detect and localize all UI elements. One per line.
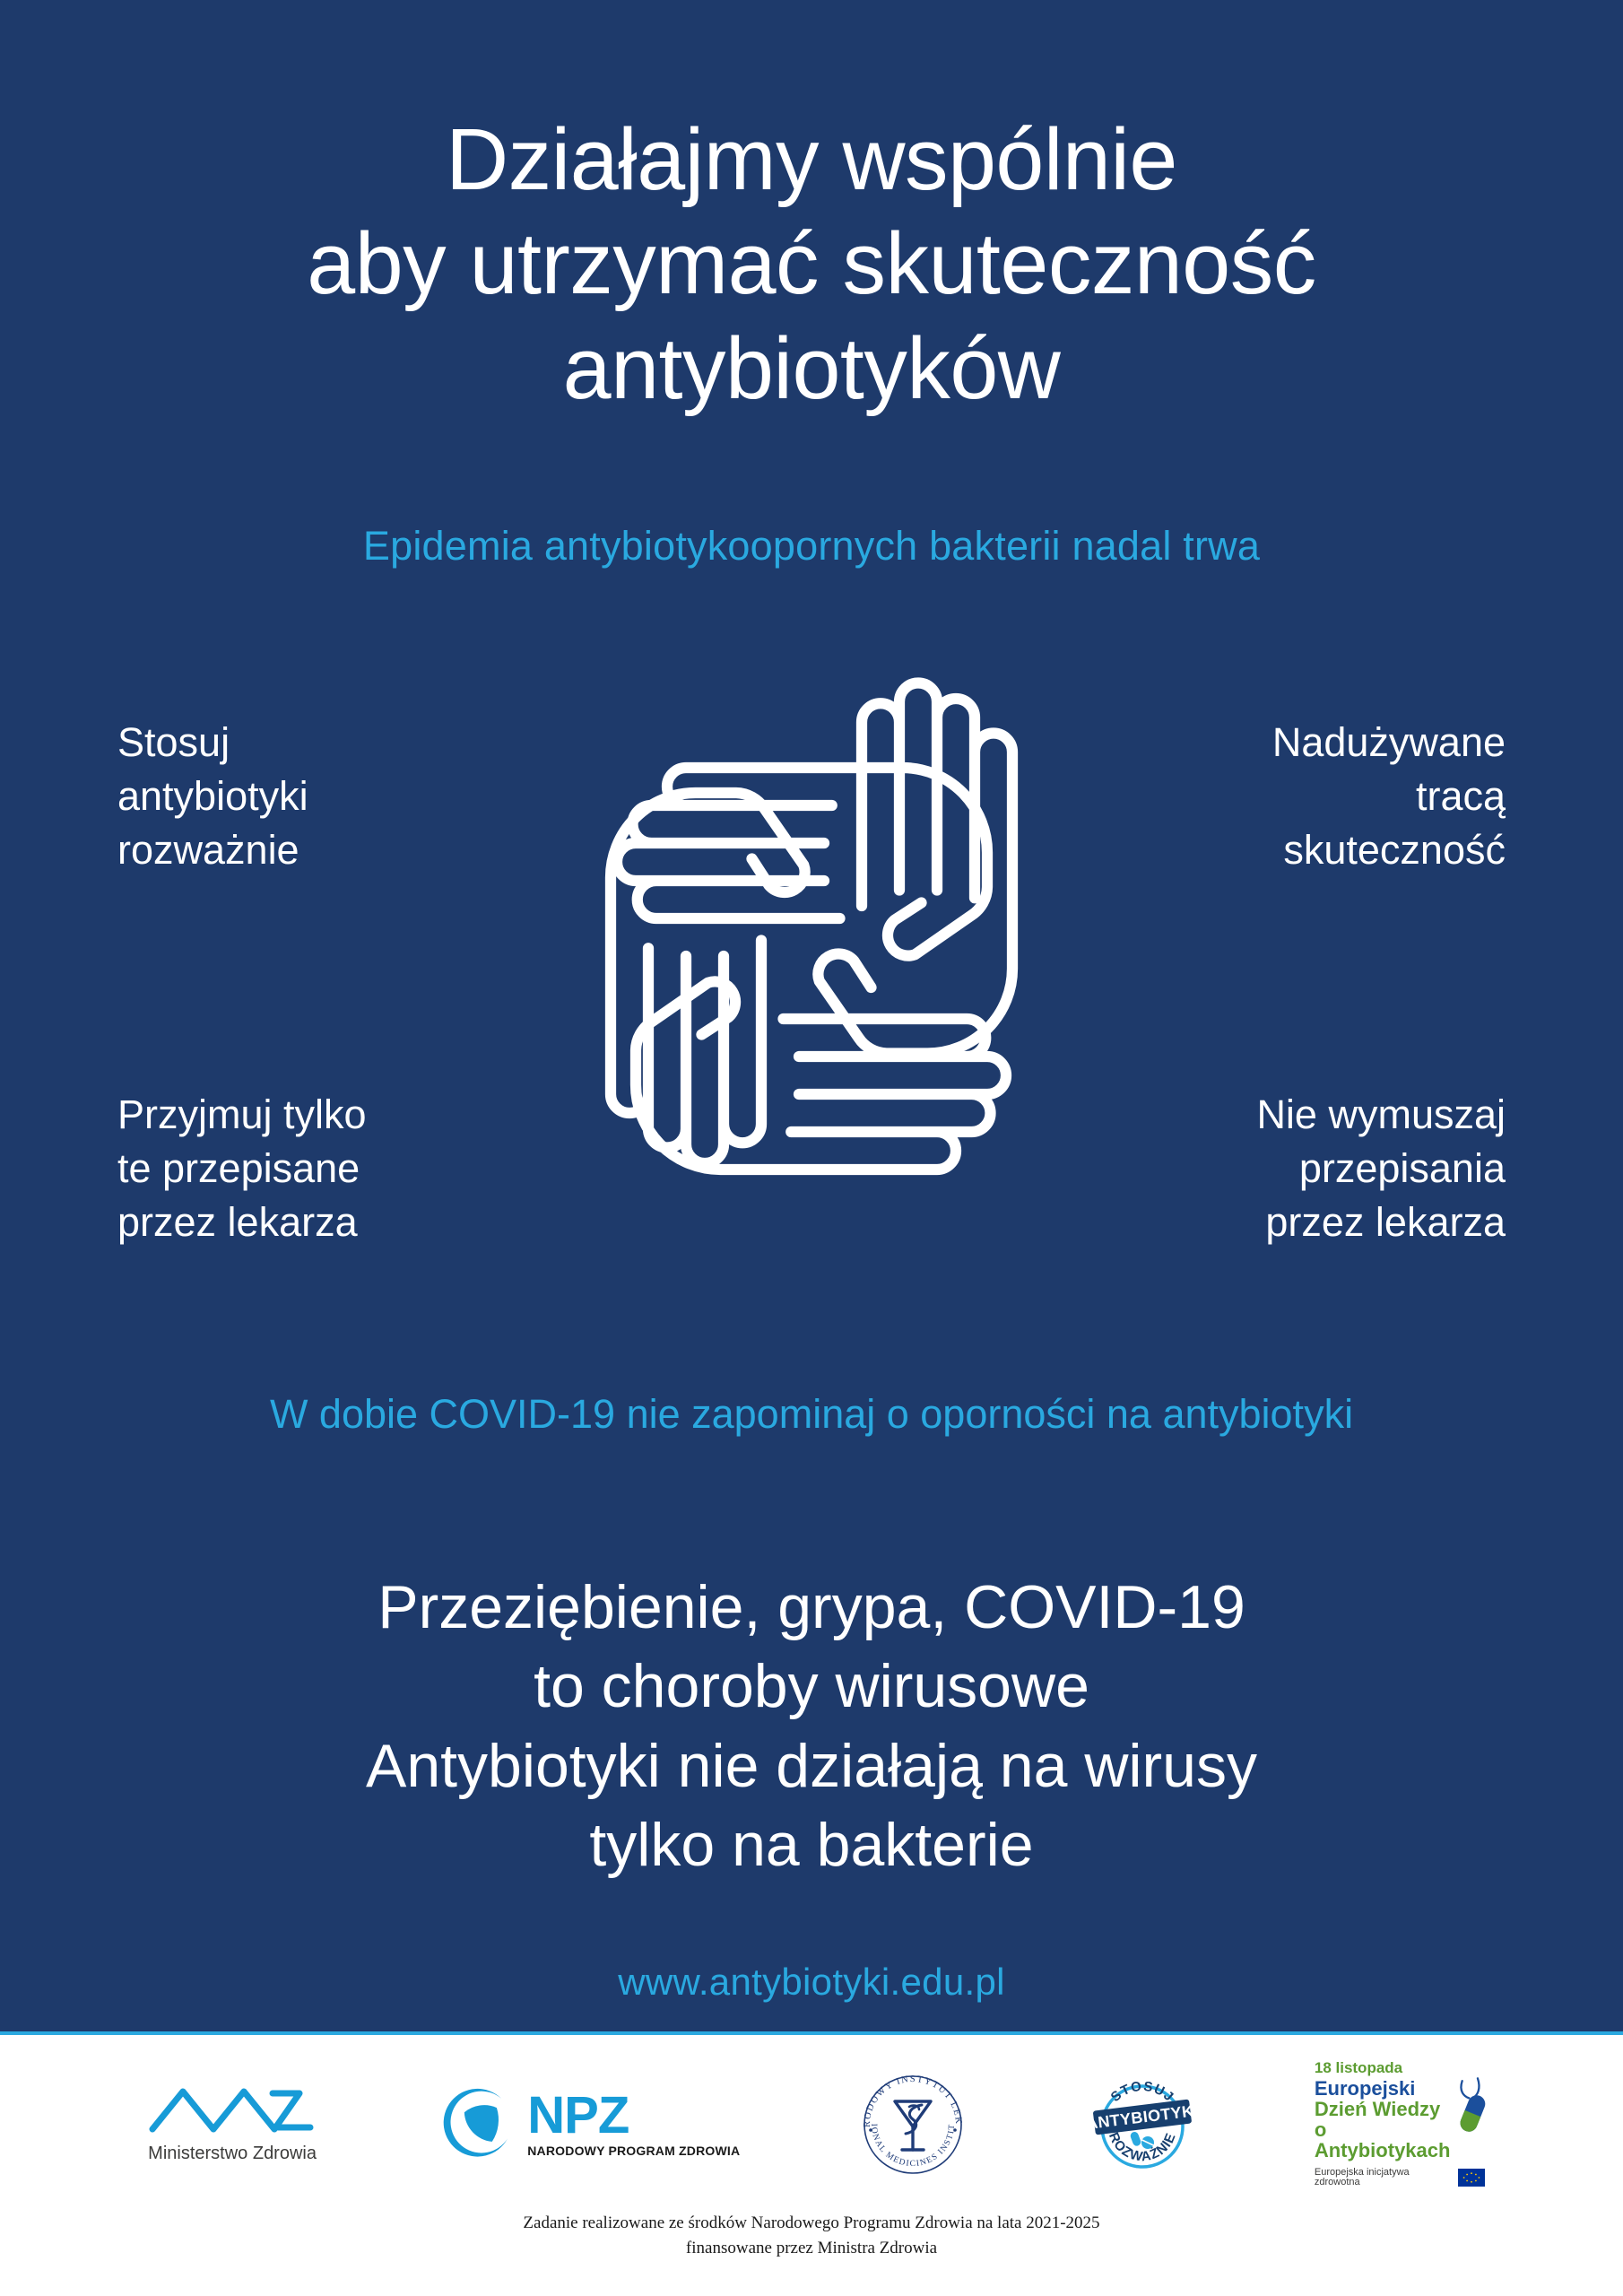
- badge-top-text: STOSUJ: [1107, 2078, 1176, 2104]
- funding-note-line-2: finansowane przez Ministra Zdrowia: [0, 2236, 1623, 2261]
- caption-bottom-right-line-3: przez lekarza: [1256, 1196, 1506, 1249]
- pills-icon: [1129, 2130, 1153, 2148]
- main-message: Przeziębienie, grypa, COVID-19 to chorob…: [0, 1568, 1623, 1885]
- message-line-4: tylko na bakterie: [0, 1805, 1623, 1884]
- funding-note-line-1: Zadanie realizowane ze środków Narodoweg…: [0, 2211, 1623, 2236]
- caption-bottom-right-line-2: przepisania: [1256, 1142, 1506, 1196]
- funding-note: Zadanie realizowane ze środków Narodoweg…: [0, 2211, 1623, 2260]
- caption-top-right-line-3: skuteczność: [1272, 823, 1506, 877]
- caption-top-right-line-1: Nadużywane: [1272, 716, 1506, 770]
- caption-bottom-right-line-1: Nie wymuszaj: [1256, 1088, 1506, 1142]
- covid-reminder: W dobie COVID-19 nie zapominaj o opornoś…: [0, 1391, 1623, 1438]
- stosuj-antybiotyki-rozwaznie-badge: STOSUJ ROZWAŻNIE ANTYBIOTYKI: [1085, 2067, 1200, 2182]
- footer: Ministerstwo Zdrowia NPZ NARODOWY PROGRA…: [0, 2031, 1623, 2296]
- npz-subtitle: NARODOWY PROGRAM ZDROWIA: [527, 2144, 740, 2158]
- caption-top-left-line-3: rozważnie: [117, 823, 308, 877]
- caption-top-left-line-1: Stosuj: [117, 716, 308, 770]
- headline-line-1: Działajmy wspólnie: [0, 108, 1623, 212]
- headline-line-3: antybiotyków: [0, 317, 1623, 421]
- ministry-of-health-logo: Ministerstwo Zdrowia: [138, 2084, 326, 2164]
- mz-mark-icon: [147, 2084, 317, 2136]
- npz-logo: NPZ NARODOWY PROGRAM ZDROWIA: [441, 2086, 740, 2163]
- message-line-1: Przeziębienie, grypa, COVID-19: [0, 1568, 1623, 1647]
- npz-mark-icon: [441, 2086, 518, 2163]
- four-hands-illustration: [489, 655, 1134, 1283]
- svg-text:ROZWAŻNIE: ROZWAŻNIE: [1106, 2130, 1179, 2165]
- subtitle: Epidemia antybiotykoopornych bakterii na…: [0, 523, 1623, 570]
- caption-bottom-left: Przyjmuj tylko te przepisane przez lekar…: [117, 1088, 367, 1249]
- caption-top-right: Nadużywane tracą skuteczność: [1272, 716, 1506, 877]
- national-medicines-institute-seal: NARODOWY INSTYTUT LEKÓW NATIONAL MEDICIN…: [855, 2067, 970, 2182]
- npz-acronym: NPZ: [527, 2091, 629, 2140]
- headline-line-2: aby utrzymać skuteczność: [0, 212, 1623, 316]
- nil-seal-icon: NARODOWY INSTYTUT LEKÓW NATIONAL MEDICIN…: [855, 2067, 970, 2182]
- poster-root: Działajmy wspólnie aby utrzymać skuteczn…: [0, 0, 1623, 2296]
- eaad-footnote: Europejska inicjatywa zdrowotna: [1315, 2168, 1453, 2188]
- stethoscope-pill-icon: [1455, 2074, 1491, 2137]
- message-line-3: Antybiotyki nie działają na wirusy: [0, 1726, 1623, 1805]
- caption-bottom-left-line-2: te przepisane: [117, 1142, 367, 1196]
- ministry-of-health-label: Ministerstwo Zdrowia: [148, 2144, 317, 2164]
- badge-icon: STOSUJ ROZWAŻNIE ANTYBIOTYKI: [1085, 2067, 1200, 2182]
- page-title: Działajmy wspólnie aby utrzymać skuteczn…: [0, 108, 1623, 421]
- eaad-line-1: Europejski: [1315, 2078, 1452, 2099]
- caption-bottom-left-line-3: przez lekarza: [117, 1196, 367, 1249]
- eaad-line-3: Antybiotykach: [1315, 2140, 1452, 2161]
- caption-top-left: Stosuj antybiotyki rozważnie: [117, 716, 308, 877]
- caption-bottom-left-line-1: Przyjmuj tylko: [117, 1088, 367, 1142]
- european-antibiotic-awareness-day-logo: 18 listopada Europejski Dzień Wiedzy o A…: [1315, 2060, 1485, 2187]
- caption-top-right-line-2: tracą: [1272, 770, 1506, 823]
- website-url[interactable]: www.antybiotyki.edu.pl: [0, 1961, 1623, 2004]
- message-line-2: to choroby wirusowe: [0, 1647, 1623, 1726]
- badge-bottom-text: ROZWAŻNIE: [1106, 2130, 1179, 2165]
- svg-text:STOSUJ: STOSUJ: [1107, 2078, 1176, 2104]
- caption-top-left-line-2: antybiotyki: [117, 770, 308, 823]
- eaad-line-2: Dzień Wiedzy o: [1315, 2099, 1452, 2140]
- logo-row: Ministerstwo Zdrowia NPZ NARODOWY PROGRA…: [0, 2046, 1623, 2203]
- eaad-date: 18 listopada: [1315, 2060, 1402, 2076]
- caption-bottom-right: Nie wymuszaj przepisania przez lekarza: [1256, 1088, 1506, 1249]
- eu-flag-icon: [1458, 2169, 1485, 2187]
